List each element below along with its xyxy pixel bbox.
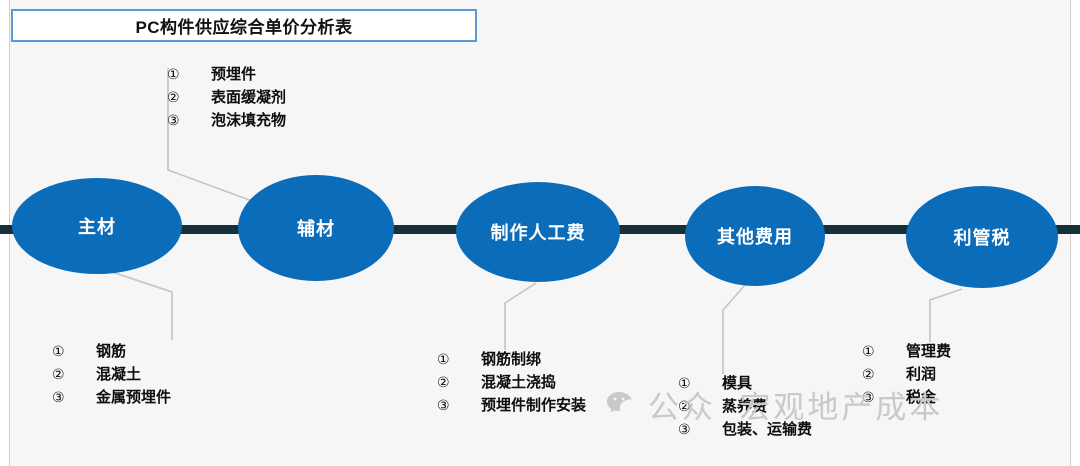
list-item: ③ 预埋件制作安装 <box>437 394 586 417</box>
watermark-left-text: 公众 <box>648 382 716 427</box>
list-item-number: ② <box>167 86 211 108</box>
item-list-auxiliary-material: ① 预埋件 ② 表面缓凝剂 ③ 泡沫填充物 <box>167 63 286 132</box>
node-profit-tax[interactable]: 利管税 <box>906 186 1058 288</box>
list-item-number: ① <box>437 348 481 370</box>
list-item-label: 钢筋 <box>96 341 126 363</box>
list-item-label: 混凝土浇捣 <box>481 372 556 394</box>
list-item-number: ① <box>167 63 211 85</box>
list-item: ① 管理费 <box>862 340 951 363</box>
node-label: 主材 <box>78 213 116 239</box>
list-item-label: 表面缓凝剂 <box>211 87 286 109</box>
title-box: PC构件供应综合单价分析表 <box>11 9 477 42</box>
list-item: ① 钢筋制绑 <box>437 348 586 371</box>
list-item: ② 混凝土 <box>52 363 171 386</box>
list-item-number: ① <box>52 340 96 362</box>
list-item: ① 预埋件 <box>167 63 286 86</box>
page-title: PC构件供应综合单价分析表 <box>135 13 352 38</box>
watermark-right-text: 宏观地产成本 <box>739 382 943 427</box>
wechat-icon <box>606 390 640 420</box>
node-label: 利管税 <box>954 224 1011 250</box>
list-item-number: ② <box>52 363 96 385</box>
list-item-label: 泡沫填充物 <box>211 110 286 132</box>
list-item-label: 混凝土 <box>96 364 141 386</box>
node-label: 其他费用 <box>717 223 793 249</box>
list-item-number: ① <box>862 340 906 362</box>
slide-canvas: PC构件供应综合单价分析表 主材 辅材 制作人工费 其他费用 利管税 ① 预埋件 <box>0 0 1080 466</box>
item-list-main-material: ① 钢筋 ② 混凝土 ③ 金属预埋件 <box>52 340 171 409</box>
list-item: ② 混凝土浇捣 <box>437 371 586 394</box>
list-item-label: 钢筋制绑 <box>481 349 541 371</box>
list-item-label: 预埋件制作安装 <box>481 395 586 417</box>
list-item: ③ 金属预埋件 <box>52 386 171 409</box>
node-label: 辅材 <box>297 215 335 241</box>
list-item: ② 表面缓凝剂 <box>167 86 286 109</box>
node-auxiliary-material[interactable]: 辅材 <box>238 175 394 281</box>
watermark-separator: · <box>724 392 731 418</box>
node-other-cost[interactable]: 其他费用 <box>685 186 825 286</box>
node-main-material[interactable]: 主材 <box>12 178 182 274</box>
list-item-label: 金属预埋件 <box>96 387 171 409</box>
node-labor-cost[interactable]: 制作人工费 <box>456 182 620 282</box>
item-list-labor-cost: ① 钢筋制绑 ② 混凝土浇捣 ③ 预埋件制作安装 <box>437 348 586 417</box>
list-item-label: 预埋件 <box>211 64 256 86</box>
list-item-number: ③ <box>52 386 96 408</box>
list-item-number: ③ <box>437 394 481 416</box>
list-item-label: 管理费 <box>906 341 951 363</box>
list-item-number: ③ <box>167 109 211 131</box>
node-label: 制作人工费 <box>491 219 586 245</box>
list-item-number: ② <box>437 371 481 393</box>
watermark: 公众 · 宏观地产成本 <box>606 382 943 427</box>
list-item: ① 钢筋 <box>52 340 171 363</box>
list-item: ③ 泡沫填充物 <box>167 109 286 132</box>
